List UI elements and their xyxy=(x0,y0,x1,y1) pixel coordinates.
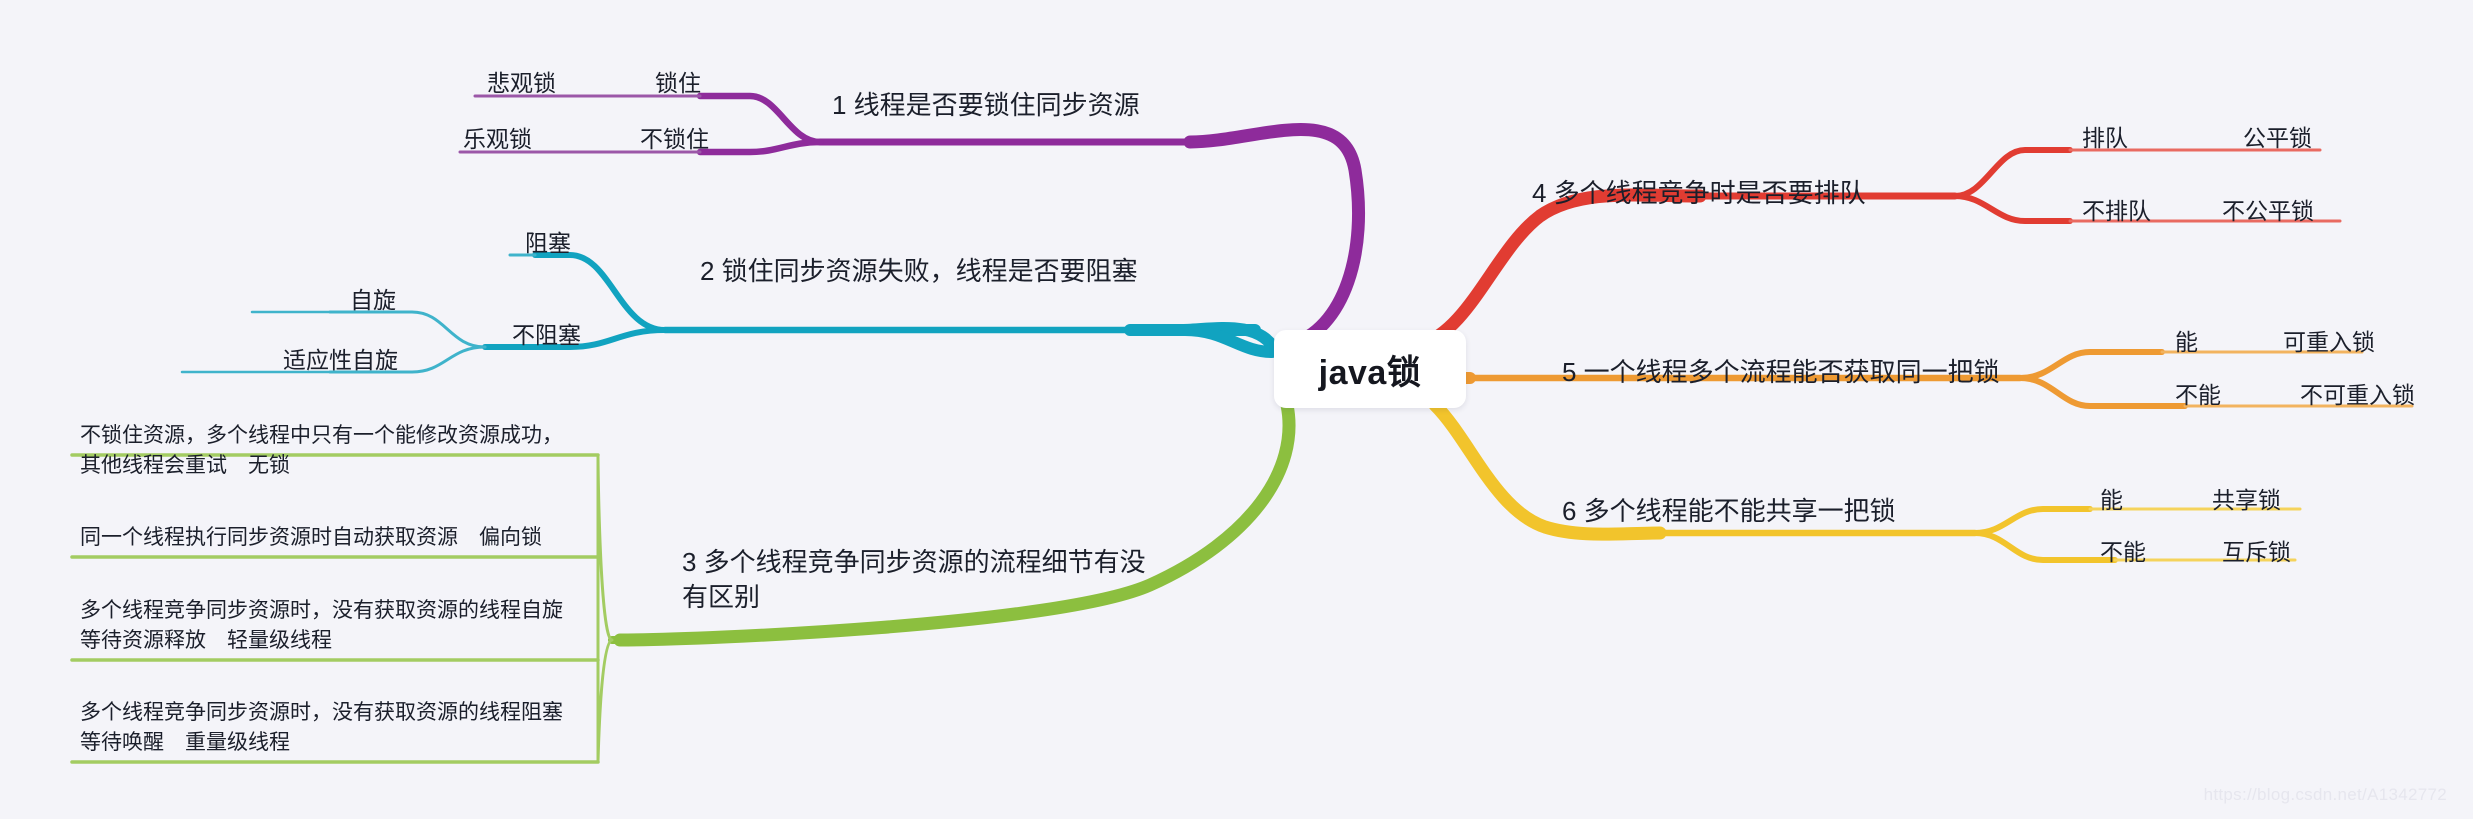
branch5-main-label[interactable]: 5 一个线程多个流程能否获取同一把锁 xyxy=(1562,355,2000,390)
watermark: https://blog.csdn.net/A1342772 xyxy=(2204,785,2447,805)
branch6-fork-buneng xyxy=(1975,533,2115,560)
branch4-leaf-gongpingsuo-label[interactable]: 公平锁 xyxy=(2243,123,2312,154)
branch5-leaf-bukechongrusuo-label[interactable]: 不可重入锁 xyxy=(2300,380,2415,411)
branch6-leaf-huchisuo-label[interactable]: 互斥锁 xyxy=(2222,537,2291,568)
branch1-fork-suo xyxy=(700,96,820,142)
branch3-leaf-qingliangji-label[interactable]: 多个线程竞争同步资源时，没有获取资源的线程自旋等待资源释放 轻量级线程 xyxy=(80,596,580,657)
branch1-child-suozhu-label[interactable]: 锁住 xyxy=(655,68,701,99)
branch3-leaf-zhongliangji-label[interactable]: 多个线程竞争同步资源时，没有获取资源的线程阻塞等待唤醒 重量级线程 xyxy=(80,698,580,759)
branch3-main-label[interactable]: 3 多个线程竞争同步资源的流程细节有没有区别 xyxy=(682,545,1152,615)
branch1-leaf-beiguansuo-label[interactable]: 悲观锁 xyxy=(487,68,556,99)
center-node[interactable]: java锁 xyxy=(1274,330,1466,408)
branch2-child-zusai-label[interactable]: 阻塞 xyxy=(525,228,571,259)
branch3-leaf-wusuo-label[interactable]: 不锁住资源，多个线程中只有一个能修改资源成功，其他线程会重试 无锁 xyxy=(80,421,580,482)
center-node-label: java锁 xyxy=(1319,345,1422,394)
branch1-leaf-leguansuo-label[interactable]: 乐观锁 xyxy=(463,124,532,155)
branch5-fork-neng xyxy=(2020,352,2162,378)
branch2-trunk2 xyxy=(1130,330,1272,352)
branch4-child-bupaidui-label[interactable]: 不排队 xyxy=(2082,196,2151,227)
branch6-child-buneng-label[interactable]: 不能 xyxy=(2100,537,2146,568)
branch5-fork-buneng xyxy=(2020,378,2185,406)
branch5-child-neng-label[interactable]: 能 xyxy=(2175,327,2198,358)
branch4-fork-bupaidui xyxy=(1955,150,2070,196)
branch1-trunk xyxy=(1190,130,1359,345)
branch6-main-label[interactable]: 6 多个线程能不能共享一把锁 xyxy=(1562,494,1896,529)
branch1-child-busuozhu-label[interactable]: 不锁住 xyxy=(640,124,709,155)
branch1-main-label[interactable]: 1 线程是否要锁住同步资源 xyxy=(832,88,1140,123)
branch4-trunk xyxy=(1420,195,1700,345)
branch2-fork-zusai xyxy=(535,255,665,330)
branch5-child-buneng-label[interactable]: 不能 xyxy=(2175,380,2221,411)
branch1-fork-busuo xyxy=(700,142,820,152)
branch6-fork-neng xyxy=(1975,509,2090,533)
branch4-child-paidui-label[interactable]: 排队 xyxy=(2082,123,2128,154)
branch4-fork-paidui xyxy=(1955,196,2070,221)
branch3-spine xyxy=(598,455,612,761)
branch2-trunk xyxy=(1180,328,1276,352)
branch6-leaf-gongxiangsuo-label[interactable]: 共享锁 xyxy=(2212,485,2281,516)
branch4-main-label[interactable]: 4 多个线程竞争时是否要排队 xyxy=(1532,176,1866,211)
branch5-leaf-kechongrusuo-label[interactable]: 可重入锁 xyxy=(2283,327,2375,358)
branch4-leaf-bugongpingsuo-label[interactable]: 不公平锁 xyxy=(2222,196,2314,227)
branch2-leaf-zixuan xyxy=(330,312,485,347)
branch2-leaf-shiyingxing-zixuan-label[interactable]: 适应性自旋 xyxy=(283,345,398,376)
branch2-child-buzusai-label[interactable]: 不阻塞 xyxy=(512,320,581,351)
branch3-leaf-piansiangsuo-label[interactable]: 同一个线程执行同步资源时自动获取资源 偏向锁 xyxy=(80,523,580,553)
branch6-child-neng-label[interactable]: 能 xyxy=(2100,485,2123,516)
branch2-main-label[interactable]: 2 锁住同步资源失败，线程是否要阻塞 xyxy=(700,254,1138,289)
branch2-leaf-zixuan-label[interactable]: 自旋 xyxy=(350,285,396,316)
mindmap-canvas: java锁 1 线程是否要锁住同步资源 锁住 悲观锁 不锁住 乐观锁 2 锁住同… xyxy=(0,0,2473,819)
